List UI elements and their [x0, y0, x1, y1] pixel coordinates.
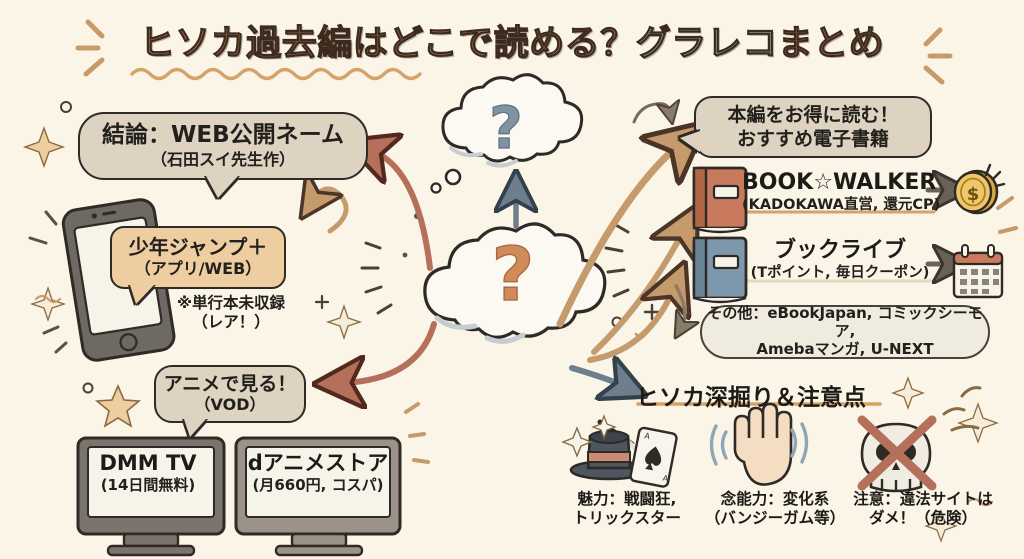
- other-line-2: Amebaマンガ, U-NEXT: [756, 341, 933, 358]
- fact-nen-ability: 念能力：変化系 （バンジーガム等）: [700, 490, 850, 529]
- crossed-skull-icon: [862, 388, 980, 491]
- title-part-2: まとめ: [778, 24, 885, 64]
- other-line-1: その他：eBookJapan, コミックシーモア,: [702, 305, 988, 340]
- title-underline-squiggle: [132, 70, 420, 79]
- arrow-to-jump: [314, 189, 346, 231]
- fact-charm: 魅力：戦闘狂, トリックスター: [552, 490, 702, 529]
- calendar-icon: [954, 245, 1002, 297]
- jump-line-2: （アプリ/WEB）: [135, 260, 262, 279]
- arrow-to-conclusion: [372, 151, 430, 268]
- magic-hat-card-icon: A A: [563, 416, 677, 487]
- jump-line-1: 少年ジャンプ＋: [129, 236, 267, 259]
- anime-line-1: アニメで見る！: [164, 373, 297, 395]
- page-title: ヒソカ過去編はどこで読める？グラレコまとめ: [0, 24, 1024, 64]
- conclusion-line-1: 結論：WEB公開ネーム: [102, 122, 344, 149]
- section-heading: ヒソカ深掘り＆注意点: [636, 378, 866, 412]
- question-mark-large: ?: [492, 232, 535, 318]
- question-mark-small: ?: [489, 94, 523, 162]
- service-1-sub: (KADOKAWA直営, 還元CP): [742, 198, 940, 214]
- jump-bubble-tail: [130, 285, 154, 304]
- other-services-pill[interactable]: その他：eBookJapan, コミックシーモア, Amebaマンガ, U-NE…: [700, 305, 990, 359]
- ebook-header-line-1: 本編をお得に読む！: [727, 104, 898, 126]
- anime-vod-bubble[interactable]: アニメで見る！ （VOD）: [154, 365, 306, 423]
- fact-2-line-2: （バンジーガム等）: [700, 509, 850, 528]
- svg-text:A: A: [644, 431, 652, 441]
- fact-1-line-1: 魅力：戦闘狂,: [552, 490, 702, 509]
- jump-note: ※単行本未収録 （レア！）: [156, 294, 306, 333]
- jump-plus-bubble[interactable]: 少年ジャンプ＋ （アプリ/WEB）: [110, 226, 286, 289]
- book-icon-bookwalker: [694, 168, 746, 232]
- tv-1-name: DMM TV: [86, 452, 210, 474]
- svg-text:A: A: [662, 473, 670, 483]
- svg-text:$: $: [967, 184, 980, 205]
- anime-line-2: （VOD）: [195, 396, 266, 415]
- conclusion-bubble-tail: [206, 176, 238, 198]
- tv-1-sub: (14日間無料): [86, 477, 210, 494]
- service-bookwalker[interactable]: BOOK☆WALKER (KADOKAWA直営, 還元CP): [742, 172, 940, 214]
- coin-icon: $: [955, 165, 1004, 213]
- fact-3-line-1: 注意：違法サイトは: [848, 490, 998, 509]
- fact-1-line-2: トリックスター: [552, 509, 702, 528]
- title-accent: グラレコ: [636, 24, 778, 64]
- tv-label-danime: dアニメストア (月660円, コスパ): [245, 452, 391, 494]
- arrow-curl-decor: [634, 104, 670, 122]
- arrow-to-ebook-header: [560, 144, 680, 324]
- service-2-sub: (Tポイント, 毎日クーポン): [742, 266, 938, 282]
- tv-2-sub: (月660円, コスパ): [245, 477, 391, 494]
- jump-note-line-1: ※単行本未収録: [156, 294, 306, 313]
- ebook-header-line-2: おすすめ電子書籍: [737, 128, 889, 150]
- fact-2-line-1: 念能力：変化系: [700, 490, 850, 509]
- tv-2-name: dアニメストア: [245, 452, 391, 474]
- anime-bubble-tail: [184, 419, 206, 437]
- service-booklive[interactable]: ブックライブ (Tポイント, 毎日クーポン): [742, 240, 938, 282]
- arrow-to-bookwalker: [594, 230, 684, 352]
- conclusion-bubble[interactable]: 結論：WEB公開ネーム （石田スイ先生作）: [78, 112, 368, 180]
- fact-warning: 注意：違法サイトは ダメ！（危険）: [848, 490, 998, 529]
- arrow-to-other: [676, 286, 685, 326]
- question-cloud-large: [425, 224, 605, 341]
- service-1-name: BOOK☆WALKER: [742, 172, 940, 194]
- tv-label-dmm: DMM TV (14日間無料): [86, 452, 210, 494]
- arrow-to-section-heading: [572, 368, 624, 386]
- service-2-name: ブックライブ: [742, 240, 938, 262]
- arrow-to-anime: [342, 324, 434, 383]
- arrow-to-booklive: [590, 288, 674, 360]
- ebook-header-bubble[interactable]: 本編をお得に読む！ おすすめ電子書籍: [694, 96, 932, 158]
- question-cloud-small: [432, 75, 582, 193]
- fact-3-line-2: ダメ！（危険）: [848, 509, 998, 528]
- jump-note-line-2: （レア！）: [156, 313, 306, 332]
- conclusion-line-2: （石田スイ先生作）: [151, 151, 295, 170]
- book-icon-booklive: [694, 238, 746, 302]
- graphic-recording-canvas: ? ?: [0, 0, 1024, 559]
- waving-hand-icon: [712, 404, 807, 485]
- title-part-1: ヒソカ過去編はどこで読める？: [140, 24, 636, 64]
- ebook-header-bubble-tail: [680, 131, 700, 152]
